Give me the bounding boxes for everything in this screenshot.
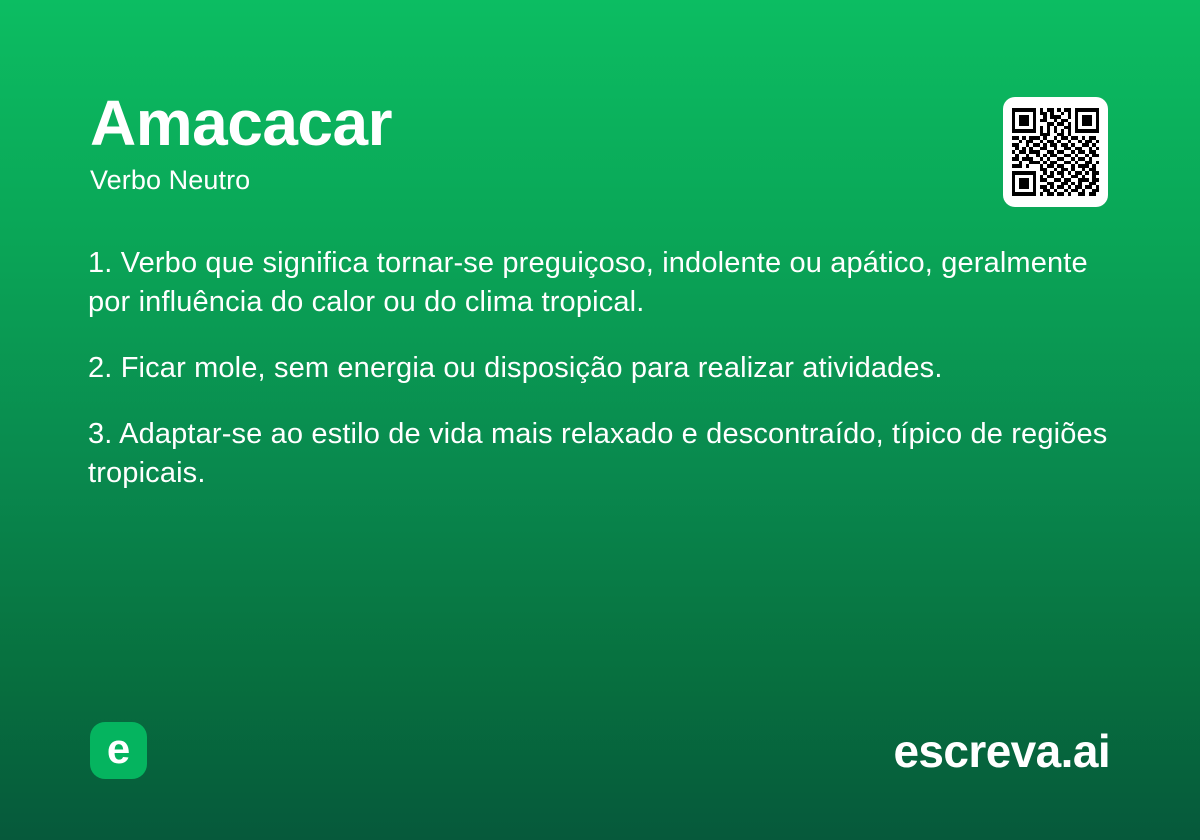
dictionary-card: Amacacar Verbo Neutro 1. Verbo que signi… [0, 0, 1200, 840]
definition-list: 1. Verbo que significa tornar-se preguiç… [88, 244, 1112, 493]
definition-item: 1. Verbo que significa tornar-se preguiç… [88, 244, 1112, 322]
qr-code-icon[interactable] [1012, 108, 1100, 196]
word-class-label: Verbo Neutro [90, 164, 1110, 196]
brand-logo-letter: e [107, 728, 130, 770]
card-header: Amacacar Verbo Neutro [90, 88, 1110, 196]
qr-code-panel[interactable] [1003, 97, 1108, 207]
page-title: Amacacar [90, 88, 1110, 158]
definition-item: 2. Ficar mole, sem energia ou disposição… [88, 349, 1112, 388]
definition-item: 3. Adaptar-se ao estilo de vida mais rel… [88, 415, 1112, 493]
brand-logo-icon: e [90, 722, 147, 779]
card-footer: e escreva.ai [90, 722, 1110, 780]
brand-wordmark: escreva.ai [893, 724, 1110, 778]
